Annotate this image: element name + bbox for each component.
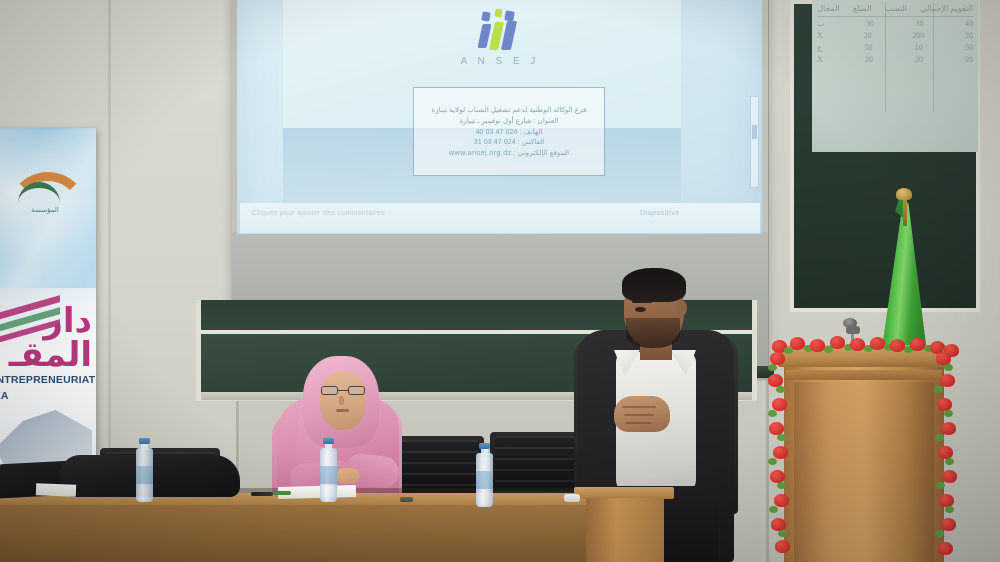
contact-heading: فرع الوكالة الوطنية لدعم تشغيل الشباب لو… (420, 105, 598, 115)
man-eyebrow (632, 300, 652, 303)
banner-subtitle-arabic: المؤسسة (10, 206, 80, 214)
wb-cell: 50 (864, 42, 872, 54)
woman-mouth (336, 409, 349, 412)
woman-nose (339, 396, 344, 405)
whiteboard-row: 20 20 20 X (817, 54, 973, 66)
wb-h-1: النسب (885, 3, 907, 15)
wb-cell: ب (817, 18, 825, 30)
front-table-front (0, 505, 658, 562)
banner-arabic-title: دار المقـ (0, 304, 92, 372)
ppt-scrollbar (750, 96, 759, 188)
man-ear (676, 300, 687, 316)
contact-address: العنوان : شارع أول نوفمبر ـ تيبازة (420, 116, 598, 126)
flag-pole (903, 196, 907, 226)
man-beard (626, 318, 680, 348)
wb-cell: 20 (965, 30, 973, 42)
wb-cell: ج (817, 42, 822, 54)
ansej-logo-mark (472, 6, 528, 54)
conference-room-photo: A N S E J فرع الوكالة الوطنية لدعم تشغيل… (0, 0, 1000, 562)
pen-black (251, 492, 273, 496)
ppt-notes-pane (240, 203, 760, 233)
whiteboard-row: 20 200 20 X (817, 30, 973, 42)
banner-french-line: L'ENTREPRENEURIAT (0, 374, 96, 386)
small-object-center (400, 497, 413, 502)
podium-lip (786, 370, 942, 380)
whiteboard-header-row: التقويم الإجمالي النسب المبلغ المجال (817, 3, 973, 15)
wb-cell: 10 (915, 42, 923, 54)
ppt-notes-placeholder: Cliquez pour ajouter des commentaires (252, 210, 385, 217)
whiteboard-row: 50 10 50 ج (817, 42, 973, 54)
microphone-base (846, 326, 860, 334)
wb-h-0: التقويم الإجمالي (920, 3, 973, 15)
wb-cell: X (817, 30, 823, 42)
eyeglasses-icon (321, 386, 365, 395)
papers-left (36, 483, 76, 496)
chalkboard-frame-right (752, 300, 757, 400)
pen-green (273, 491, 291, 495)
ppt-status-bar: Diapositive (640, 210, 680, 217)
contact-fax: الفاكس : 024 47 03 31 (420, 137, 598, 147)
flower-garland-left (766, 348, 792, 562)
man-eye (635, 307, 646, 312)
man-hair (622, 268, 686, 302)
contact-phone: الهاتف : 024 47 03 40 (420, 127, 598, 137)
rollup-banner: المؤسسة دار المقـ L'ENTREPRENEURIAT PAZA… (0, 128, 96, 498)
whiteboard: التقويم الإجمالي النسب المبلغ المجال 40 … (812, 0, 978, 152)
wb-cell: 20 (965, 54, 973, 66)
small-object-right (564, 494, 580, 502)
woman-hands (336, 468, 360, 484)
wb-h-3: المجال (817, 3, 840, 15)
podium-body (794, 382, 934, 562)
man-clasped-hands (614, 396, 670, 432)
wb-cell: 50 (965, 42, 973, 54)
wb-cell: 20 (865, 54, 873, 66)
wb-h-2: المبلغ (853, 3, 872, 15)
flag-finial-icon (896, 188, 912, 200)
flower-garland-top (772, 336, 958, 356)
banner-city: PAZA (0, 390, 96, 402)
small-lectern-body (586, 498, 664, 562)
wb-cell: 40 (965, 18, 973, 30)
wb-cell: 30 (866, 18, 874, 30)
flower-garland-right (932, 350, 958, 562)
wb-cell: X (817, 54, 823, 66)
wb-cell: 20 (864, 30, 872, 42)
slide-contact-box: فرع الوكالة الوطنية لدعم تشغيل الشباب لو… (413, 87, 605, 176)
ansej-logo: A N S E J (455, 6, 545, 82)
wb-cell: 200 (912, 30, 924, 42)
wb-cell: 20 (915, 54, 923, 66)
ansej-wordmark: A N S E J (461, 56, 540, 67)
contact-web: الموقع الإلكتروني : www.ansej.org.dz (420, 148, 598, 158)
wb-cell: 30 (916, 18, 924, 30)
whiteboard-row: 40 30 30 ب (817, 18, 973, 30)
chalkboard-frame-left (196, 300, 201, 400)
